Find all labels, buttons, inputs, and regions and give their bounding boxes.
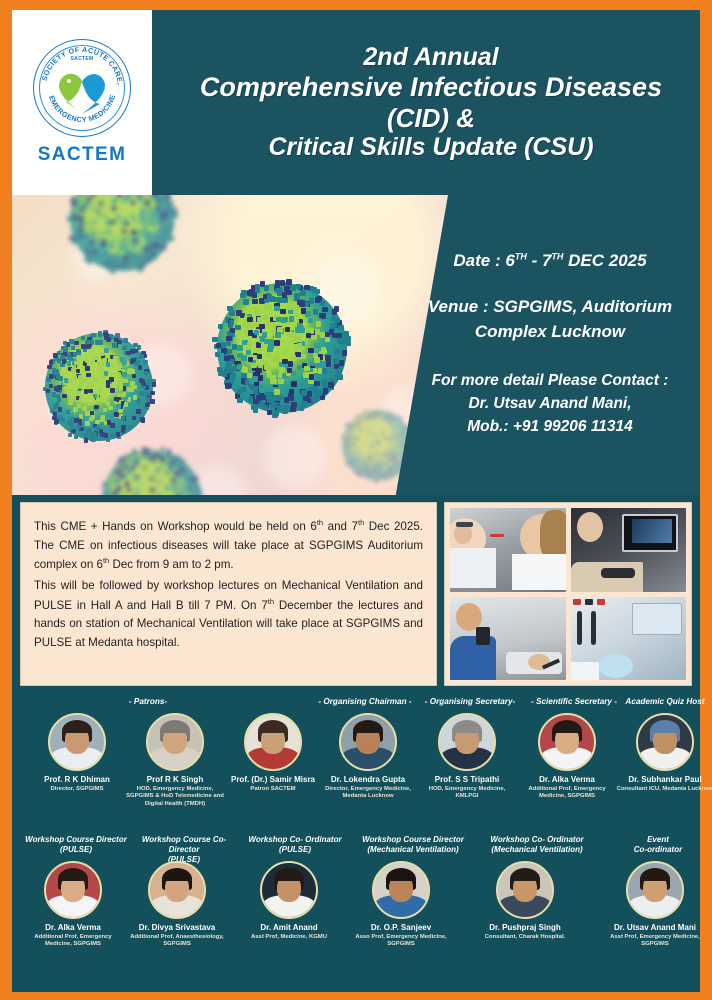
faculty-person: Prof R K SinghHOD, Emergency Medicine, S… (126, 713, 224, 809)
event-details: Date : 6TH - 7TH DEC 2025 Venue : SGPGIM… (400, 195, 700, 495)
hero-section: Date : 6TH - 7TH DEC 2025 Venue : SGPGIM… (12, 195, 700, 495)
person-name: Dr. Amit Anand (240, 923, 338, 933)
avatar-hairline (164, 872, 190, 881)
header-line-1: Workshop Course Director (352, 835, 474, 845)
person-affiliation: Asst Prof, Emergency Medicine, SGPGIMS (606, 934, 704, 950)
venue-line-2: Complex Lucknow (428, 320, 672, 345)
virus-particle (45, 333, 153, 441)
faculty-person: Dr. Alka VermaAdditional Prof, Emergency… (24, 861, 122, 949)
person-name: Prof R K Singh (126, 775, 224, 785)
avatar (339, 713, 397, 771)
person-affiliation: Additional Prof, Emergency Medicine, SGP… (24, 934, 122, 950)
avatar (48, 713, 106, 771)
avatar-hairline (642, 872, 668, 881)
person-name: Dr. Alka Verma (518, 775, 616, 785)
avatar-hairline (355, 724, 381, 733)
avatar (636, 713, 694, 771)
person-affiliation: Director, SGPGIMS (28, 786, 126, 794)
person-name: Prof. S S Tripathi (418, 775, 516, 785)
person-name: Dr. Alka Verma (24, 923, 122, 933)
faculty-section-header: - Patrons- (58, 697, 238, 707)
faculty-person: Dr. Alka VermaAdditional Prof, Emergency… (518, 713, 616, 801)
contact-label: For more detail Please Contact : (432, 369, 669, 392)
intubation-training-photo (450, 597, 566, 681)
avatar (260, 861, 318, 919)
person-name: Prof. (Dr.) Samir Misra (224, 775, 322, 785)
person-name: Prof. R K Dhiman (28, 775, 126, 785)
avatar (44, 861, 102, 919)
faculty-section-header: Academic Quiz Host (610, 697, 712, 707)
sactem-logo: SOCIETY OF ACUTE CARE, TRAUMA AND EMERGE… (33, 39, 131, 166)
faculty-person: Dr. Divya SrivastavaAdditional Prof, Ana… (128, 861, 226, 949)
avatar-hairline (276, 872, 302, 881)
poster-inner: SOCIETY OF ACUTE CARE, TRAUMA AND EMERGE… (12, 10, 700, 992)
avatar-hairline (162, 724, 188, 733)
faculty-section: - Patrons-- Organising Chairman -- Organ… (12, 693, 700, 992)
throat-swab-photo (450, 508, 566, 592)
logo-figures-icon (52, 64, 112, 116)
description-paragraph-2: This will be followed by workshop lectur… (34, 577, 423, 653)
venue-line-1: Venue : SGPGIMS, Auditorium (428, 295, 672, 320)
faculty-section-header: Workshop Co- Ordinator(PULSE) (240, 835, 350, 855)
header-line-2: (Mechanical Ventilation) (476, 845, 598, 855)
row2-headers: Workshop Course Director(PULSE)Workshop … (18, 835, 694, 861)
avatar-hairline (554, 724, 580, 733)
header-line-1: Workshop Co- Ordinator (240, 835, 350, 845)
person-affiliation: Asst Prof, Medicine, KGMU (240, 934, 338, 942)
description-band: This CME + Hands on Workshop would be he… (12, 495, 700, 693)
virus-particle (102, 450, 202, 495)
faculty-person: Dr. Pushpraj SinghConsultant, Charak Hos… (476, 861, 574, 941)
contact-name: Dr. Utsav Anand Mani, (432, 392, 669, 415)
faculty-person: Dr. Subhankar PaulConsultant ICU, Medant… (616, 713, 712, 793)
avatar-hairline (512, 872, 538, 881)
title-line-1: 2nd Annual (363, 43, 498, 72)
avatar (244, 713, 302, 771)
person-affiliation: Consultant ICU, Medanta Lucknow (616, 786, 712, 794)
ultrasound-photo (571, 508, 687, 592)
faculty-section-header: Workshop Co- Ordinator(Mechanical Ventil… (476, 835, 598, 855)
background-bokeh (262, 425, 326, 489)
person-affiliation: Patron SACTEM (224, 786, 322, 794)
faculty-section-header: Workshop Course Director(Mechanical Vent… (352, 835, 474, 855)
poster-header: SOCIETY OF ACUTE CARE, TRAUMA AND EMERGE… (12, 10, 700, 195)
faculty-section-header: Workshop Course Co-Director(PULSE) (128, 835, 240, 864)
avatar-hairline (388, 872, 414, 881)
avatar-hairline (260, 724, 286, 733)
faculty-section-header: - Organising Chairman - (305, 697, 425, 707)
person-name: Dr. Lokendra Gupta (319, 775, 417, 785)
logo-ring: SOCIETY OF ACUTE CARE, TRAUMA AND EMERGE… (33, 39, 131, 137)
virus-particle (70, 195, 174, 271)
contact-mobile[interactable]: Mob.: +91 99206 11314 (432, 415, 669, 438)
faculty-person: Dr. Lokendra GuptaDirector, Emergency Me… (319, 713, 417, 801)
photo-grid (444, 502, 692, 686)
faculty-section-header: Workshop Course Director(PULSE) (24, 835, 128, 855)
event-contact: For more detail Please Contact : Dr. Uts… (432, 369, 669, 439)
title-line-4: Critical Skills Update (CSU) (268, 133, 593, 162)
header-line-1: Workshop Co- Ordinator (476, 835, 598, 845)
date-day-1: 6 (505, 251, 514, 270)
date-separator: - (527, 251, 542, 270)
faculty-row-1: Prof. R K DhimanDirector, SGPGIMS Prof R… (18, 713, 694, 835)
faculty-person: Dr. Amit AnandAsst Prof, Medicine, KGMU (240, 861, 338, 941)
avatar-hairline (652, 724, 678, 733)
desc-p1-a: This CME + Hands on Workshop would be he… (34, 520, 317, 533)
description-paragraph-1: This CME + Hands on Workshop would be he… (34, 517, 423, 575)
logo-panel: SOCIETY OF ACUTE CARE, TRAUMA AND EMERGE… (12, 10, 152, 195)
header-line-1: Workshop Course Director (24, 835, 128, 845)
header-line-2: Co-ordinator (606, 845, 710, 855)
header-line-2: (Mechanical Ventilation) (352, 845, 474, 855)
faculty-section-header: EventCo-ordinator (606, 835, 710, 855)
person-affiliation: Asso Prof, Emergency Medicine, SGPGIMS (352, 934, 450, 950)
person-affiliation: Additional Prof, Emergency Medicine, SGP… (518, 786, 616, 802)
date-day-2: 7 (542, 251, 551, 270)
date-sup-2: TH (551, 252, 563, 262)
avatar (438, 713, 496, 771)
person-name: Dr. O.P. Sanjeev (352, 923, 450, 933)
avatar-hairline (454, 724, 480, 733)
conference-poster: SOCIETY OF ACUTE CARE, TRAUMA AND EMERGE… (0, 0, 712, 1000)
avatar-hairline (60, 872, 86, 881)
person-name: Dr. Pushpraj Singh (476, 923, 574, 933)
person-name: Dr. Utsav Anand Mani (606, 923, 704, 933)
faculty-person: Prof. S S TripathiHOD, Emergency Medicin… (418, 713, 516, 801)
poster-title: 2nd Annual Comprehensive Infectious Dise… (162, 10, 700, 195)
event-venue: Venue : SGPGIMS, Auditorium Complex Luck… (428, 295, 672, 344)
faculty-person: Prof. R K DhimanDirector, SGPGIMS (28, 713, 126, 793)
date-label: Date : (453, 251, 505, 270)
person-name: Dr. Subhankar Paul (616, 775, 712, 785)
avatar (496, 861, 554, 919)
description-text: This CME + Hands on Workshop would be he… (20, 502, 437, 686)
avatar-hairline (64, 724, 90, 733)
avatar (626, 861, 684, 919)
title-line-3: (CID) & (387, 103, 475, 133)
avatar (146, 713, 204, 771)
virus-particle (217, 283, 347, 413)
faculty-person: Dr. O.P. SanjeevAsso Prof, Emergency Med… (352, 861, 450, 949)
logo-inner-text: SACTEM (34, 56, 130, 62)
avatar (538, 713, 596, 771)
header-line-2: (PULSE) (24, 845, 128, 855)
avatar (372, 861, 430, 919)
header-line-1: Workshop Course Co-Director (128, 835, 240, 855)
avatar (148, 861, 206, 919)
ventilator-photo (571, 597, 687, 681)
desc-p1-b: and 7 (323, 520, 358, 533)
header-line-1: Event (606, 835, 710, 845)
desc-p1-d: Dec from 9 am to 2 pm. (109, 558, 233, 571)
row1-headers: - Patrons-- Organising Chairman -- Organ… (18, 697, 694, 713)
faculty-section-header: - Organising Secretary- (410, 697, 530, 707)
person-affiliation: HOD, Emergency Medicine, KMLPGI (418, 786, 516, 802)
faculty-person: Dr. Utsav Anand ManiAsst Prof, Emergency… (606, 861, 704, 949)
faculty-row-2: Dr. Alka VermaAdditional Prof, Emergency… (18, 861, 694, 981)
date-month-year: DEC 2025 (563, 251, 646, 270)
person-affiliation: Additional Prof, Anaesthesiology, SGPGIM… (128, 934, 226, 950)
date-sup-1: TH (515, 252, 527, 262)
virus-illustration (12, 195, 448, 495)
person-name: Dr. Divya Srivastava (128, 923, 226, 933)
title-line-2: Comprehensive Infectious Diseases (200, 72, 662, 103)
header-line-2: (PULSE) (240, 845, 350, 855)
event-date: Date : 6TH - 7TH DEC 2025 (453, 251, 646, 271)
logo-wordmark: SACTEM (33, 144, 131, 166)
person-affiliation: HOD, Emergency Medicine, SGPGIMS & HoD T… (126, 786, 224, 809)
person-affiliation: Director, Emergency Medicine, Medanta Lu… (319, 786, 417, 802)
faculty-person: Prof. (Dr.) Samir MisraPatron SACTEM (224, 713, 322, 793)
person-affiliation: Consultant, Charak Hospital. (476, 934, 574, 942)
